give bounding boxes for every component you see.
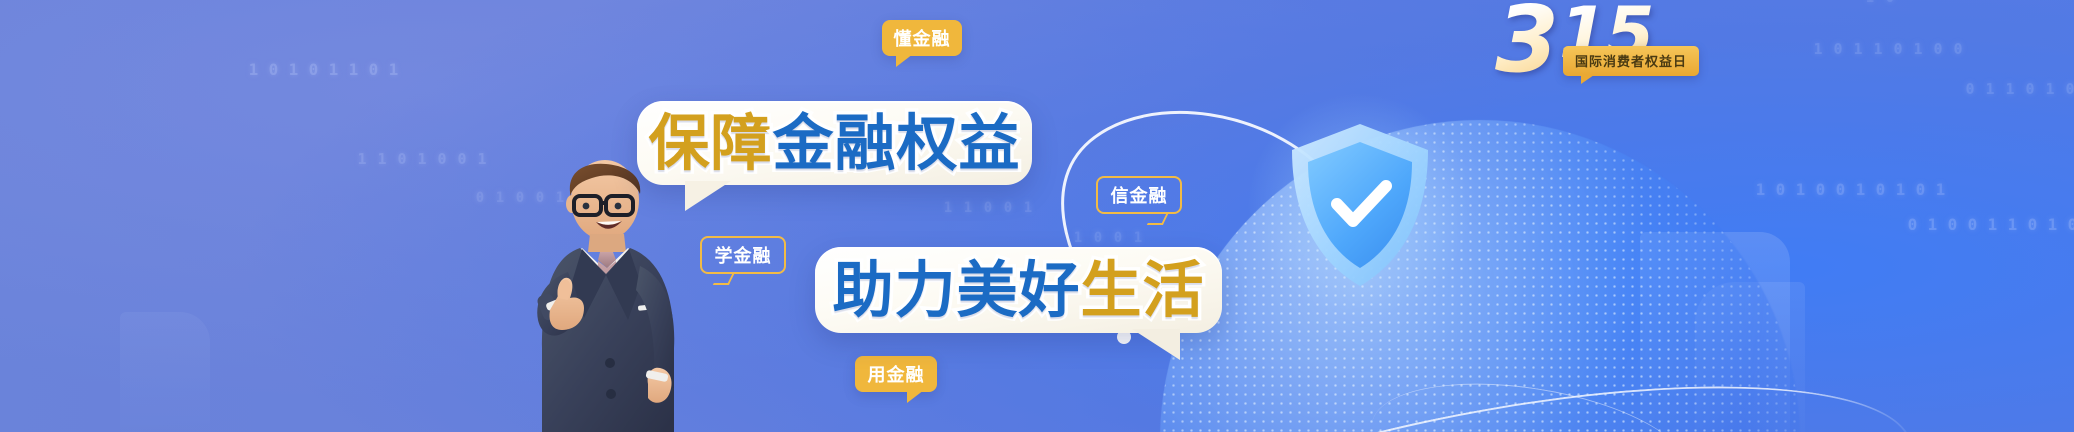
headline-line-1: 保障金融权益	[637, 101, 1032, 185]
tag-xin-jinrong[interactable]: 信金融	[1096, 176, 1182, 214]
tag-yong-jinrong-label: 用金融	[868, 361, 925, 387]
binary-column: 1 0 0 1 0 1 1	[352, 150, 492, 168]
binary-column: 1 0 0 1 1	[938, 200, 1038, 216]
tag-xin-jinrong-label: 信金融	[1111, 182, 1168, 208]
tag-yong-jinrong[interactable]: 用金融	[855, 356, 937, 392]
tag-dong-jinrong-label: 懂金融	[894, 25, 951, 51]
binary-column: 0 1 0 1 1 0	[1960, 80, 2074, 98]
binary-column: 1 0 0 1	[1068, 230, 1148, 246]
tag-tail	[713, 272, 735, 285]
bubble-tail	[685, 181, 731, 211]
headline-bubble-2: 助力美好生活	[815, 247, 1222, 333]
headline-bubble-1: 保障金融权益	[637, 101, 1032, 185]
binary-column: 1 0 1 1 0 1 0 1	[243, 60, 403, 79]
binary-column: 0 1	[1860, 0, 1900, 6]
headline-1-segment-blue: 金融权益	[773, 113, 1021, 174]
tag-dong-jinrong[interactable]: 懂金融	[882, 20, 962, 56]
logo-digit-3: 3	[1495, 0, 1557, 86]
logo-315: 3 15 国际消费者权益日	[1495, 0, 1695, 104]
building-silhouette	[1695, 282, 1805, 432]
binary-column: 1 0 1 0 1 0 0 1 0 1	[1750, 180, 1950, 199]
binary-column: 1 0 1 0 1 1 0 0 1 0	[1902, 215, 2074, 234]
badge-tail	[1581, 75, 1594, 84]
tag-tail	[896, 54, 913, 67]
binary-column: 0 0 1 0 1 1 0 1	[1808, 40, 1968, 58]
headline-2-segment-blue: 助力美好	[832, 260, 1080, 321]
banner-315-financial-rights: 1 0 1 0 0 1 10 1 0 1 1 0 0 1 01 0 1 1 0 …	[0, 0, 2074, 432]
headline-line-2: 助力美好生活	[815, 247, 1222, 333]
logo-315-badge: 国际消费者权益日	[1563, 46, 1699, 76]
tag-tail	[1147, 212, 1169, 225]
tag-xue-jinrong-label: 学金融	[715, 242, 772, 268]
headline-1-segment-gold: 保障	[648, 113, 772, 174]
bubble-tail	[1132, 329, 1180, 360]
headline-2-segment-gold: 生活	[1081, 260, 1205, 321]
tag-tail	[907, 390, 924, 403]
shield-check-icon	[1285, 120, 1435, 290]
businessman-thumbs-up-mascot	[498, 148, 708, 432]
logo-315-badge-label: 国际消费者权益日	[1575, 55, 1687, 70]
building-silhouette	[120, 312, 210, 432]
tag-xue-jinrong[interactable]: 学金融	[700, 236, 786, 274]
